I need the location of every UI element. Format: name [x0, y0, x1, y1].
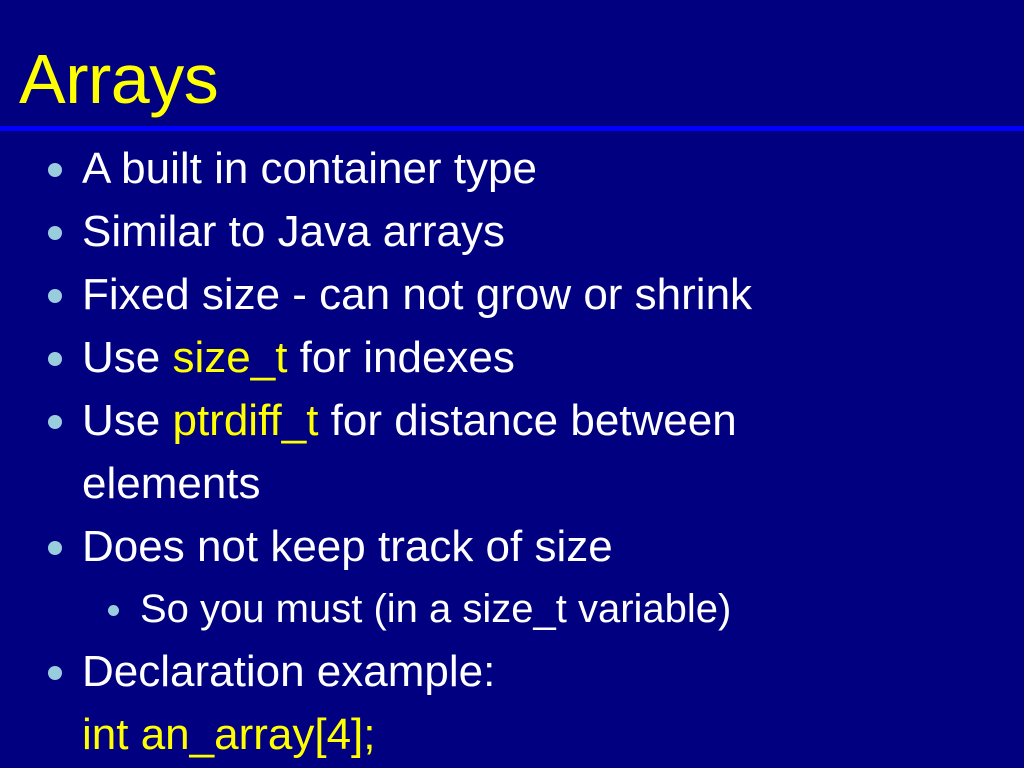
list-item-label-pre: Use: [82, 333, 172, 382]
code-example-line: int an_array[4];: [0, 703, 1024, 766]
list-item: Declaration example:: [0, 640, 1024, 703]
bullet-dot-icon: [48, 226, 62, 240]
bullet-dot-icon: [48, 352, 62, 366]
bullet-dot-icon: [48, 415, 62, 429]
list-item-label: Fixed size - can not grow or shrink: [82, 270, 752, 319]
title-divider: [0, 126, 1024, 131]
list-item-label: Does not keep track of size: [82, 522, 613, 571]
code-token-ptrdiff-t: ptrdiff_t: [172, 396, 318, 445]
list-item-sub-label: So you must (in a size_t variable): [140, 587, 731, 631]
bullet-dot-icon: [108, 605, 119, 616]
bullet-dot-icon: [48, 666, 62, 680]
list-item: A built in container type: [0, 137, 1024, 200]
list-item: Similar to Java arrays: [0, 200, 1024, 263]
list-item: Use ptrdiff_t for distance between: [0, 389, 1024, 452]
list-item-label: Declaration example:: [82, 647, 495, 696]
page-title: Arrays: [19, 42, 218, 116]
slide-title-block: Arrays: [0, 0, 1024, 131]
list-item-label-post: for indexes: [287, 333, 514, 382]
slide-canvas: Arrays A built in container type Similar…: [0, 0, 1024, 768]
list-item-label: A built in container type: [82, 144, 537, 193]
list-item-label-post: for distance between: [318, 396, 736, 445]
list-item-continuation: elements: [0, 452, 1024, 515]
list-item: Fixed size - can not grow or shrink: [0, 263, 1024, 326]
bullet-dot-icon: [48, 541, 62, 555]
slide-body-list: A built in container type Similar to Jav…: [0, 137, 1024, 766]
bullet-dot-icon: [48, 163, 62, 177]
list-item-label-pre: Use: [82, 396, 172, 445]
list-item: Use size_t for indexes: [0, 326, 1024, 389]
list-item-label: Similar to Java arrays: [82, 207, 505, 256]
code-token-size-t: size_t: [172, 333, 287, 382]
bullet-dot-icon: [48, 289, 62, 303]
list-item-sub: So you must (in a size_t variable): [0, 578, 1024, 640]
list-item: Does not keep track of size: [0, 515, 1024, 578]
